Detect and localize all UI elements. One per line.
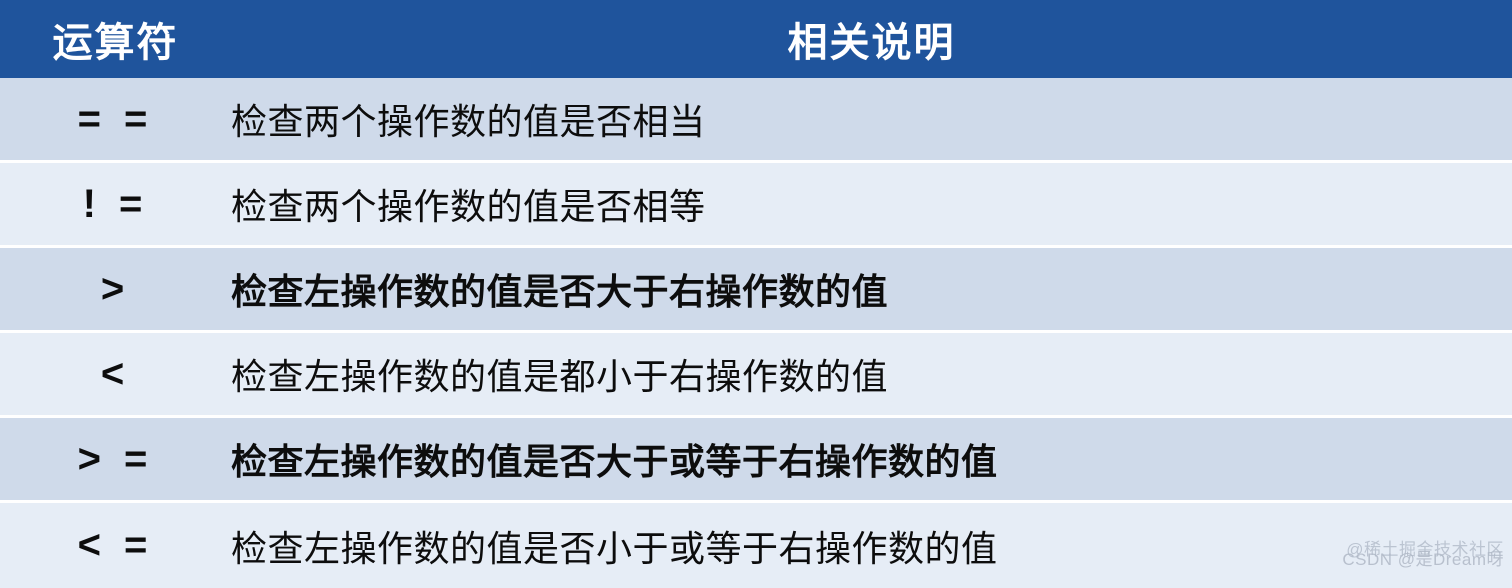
operator-symbol: ! =: [0, 163, 231, 248]
operator-description: 检查两个操作数的值是否相等: [231, 163, 1512, 248]
operator-description: 检查左操作数的值是都小于右操作数的值: [231, 333, 1512, 418]
operator-description: 检查左操作数的值是否大于右操作数的值: [231, 248, 1512, 333]
operator-symbol: < =: [0, 503, 231, 588]
comparison-operators-table: 运算符 相关说明 = = 检查两个操作数的值是否相当 ! = 检查两个操作数的值…: [0, 0, 1512, 588]
table-row: = = 检查两个操作数的值是否相当: [0, 78, 1512, 163]
operator-symbol: <: [0, 333, 231, 418]
table-row: < = 检查左操作数的值是否小于或等于右操作数的值: [0, 503, 1512, 588]
operator-symbol: >: [0, 248, 231, 333]
column-header-operator: 运算符: [0, 0, 231, 78]
table-body: = = 检查两个操作数的值是否相当 ! = 检查两个操作数的值是否相等 > 检查…: [0, 78, 1512, 588]
table-row: > 检查左操作数的值是否大于右操作数的值: [0, 248, 1512, 333]
operator-symbol: = =: [0, 78, 231, 163]
operator-description: 检查左操作数的值是否大于或等于右操作数的值: [231, 418, 1512, 503]
table-row: ! = 检查两个操作数的值是否相等: [0, 163, 1512, 248]
table-row: > = 检查左操作数的值是否大于或等于右操作数的值: [0, 418, 1512, 503]
table-header-row: 运算符 相关说明: [0, 0, 1512, 78]
comparison-operators-table-container: 运算符 相关说明 = = 检查两个操作数的值是否相当 ! = 检查两个操作数的值…: [0, 0, 1512, 583]
table-row: < 检查左操作数的值是都小于右操作数的值: [0, 333, 1512, 418]
table-header: 运算符 相关说明: [0, 0, 1512, 78]
operator-description: 检查左操作数的值是否小于或等于右操作数的值: [231, 503, 1512, 588]
column-header-description: 相关说明: [231, 0, 1512, 78]
operator-description: 检查两个操作数的值是否相当: [231, 78, 1512, 163]
operator-symbol: > =: [0, 418, 231, 503]
